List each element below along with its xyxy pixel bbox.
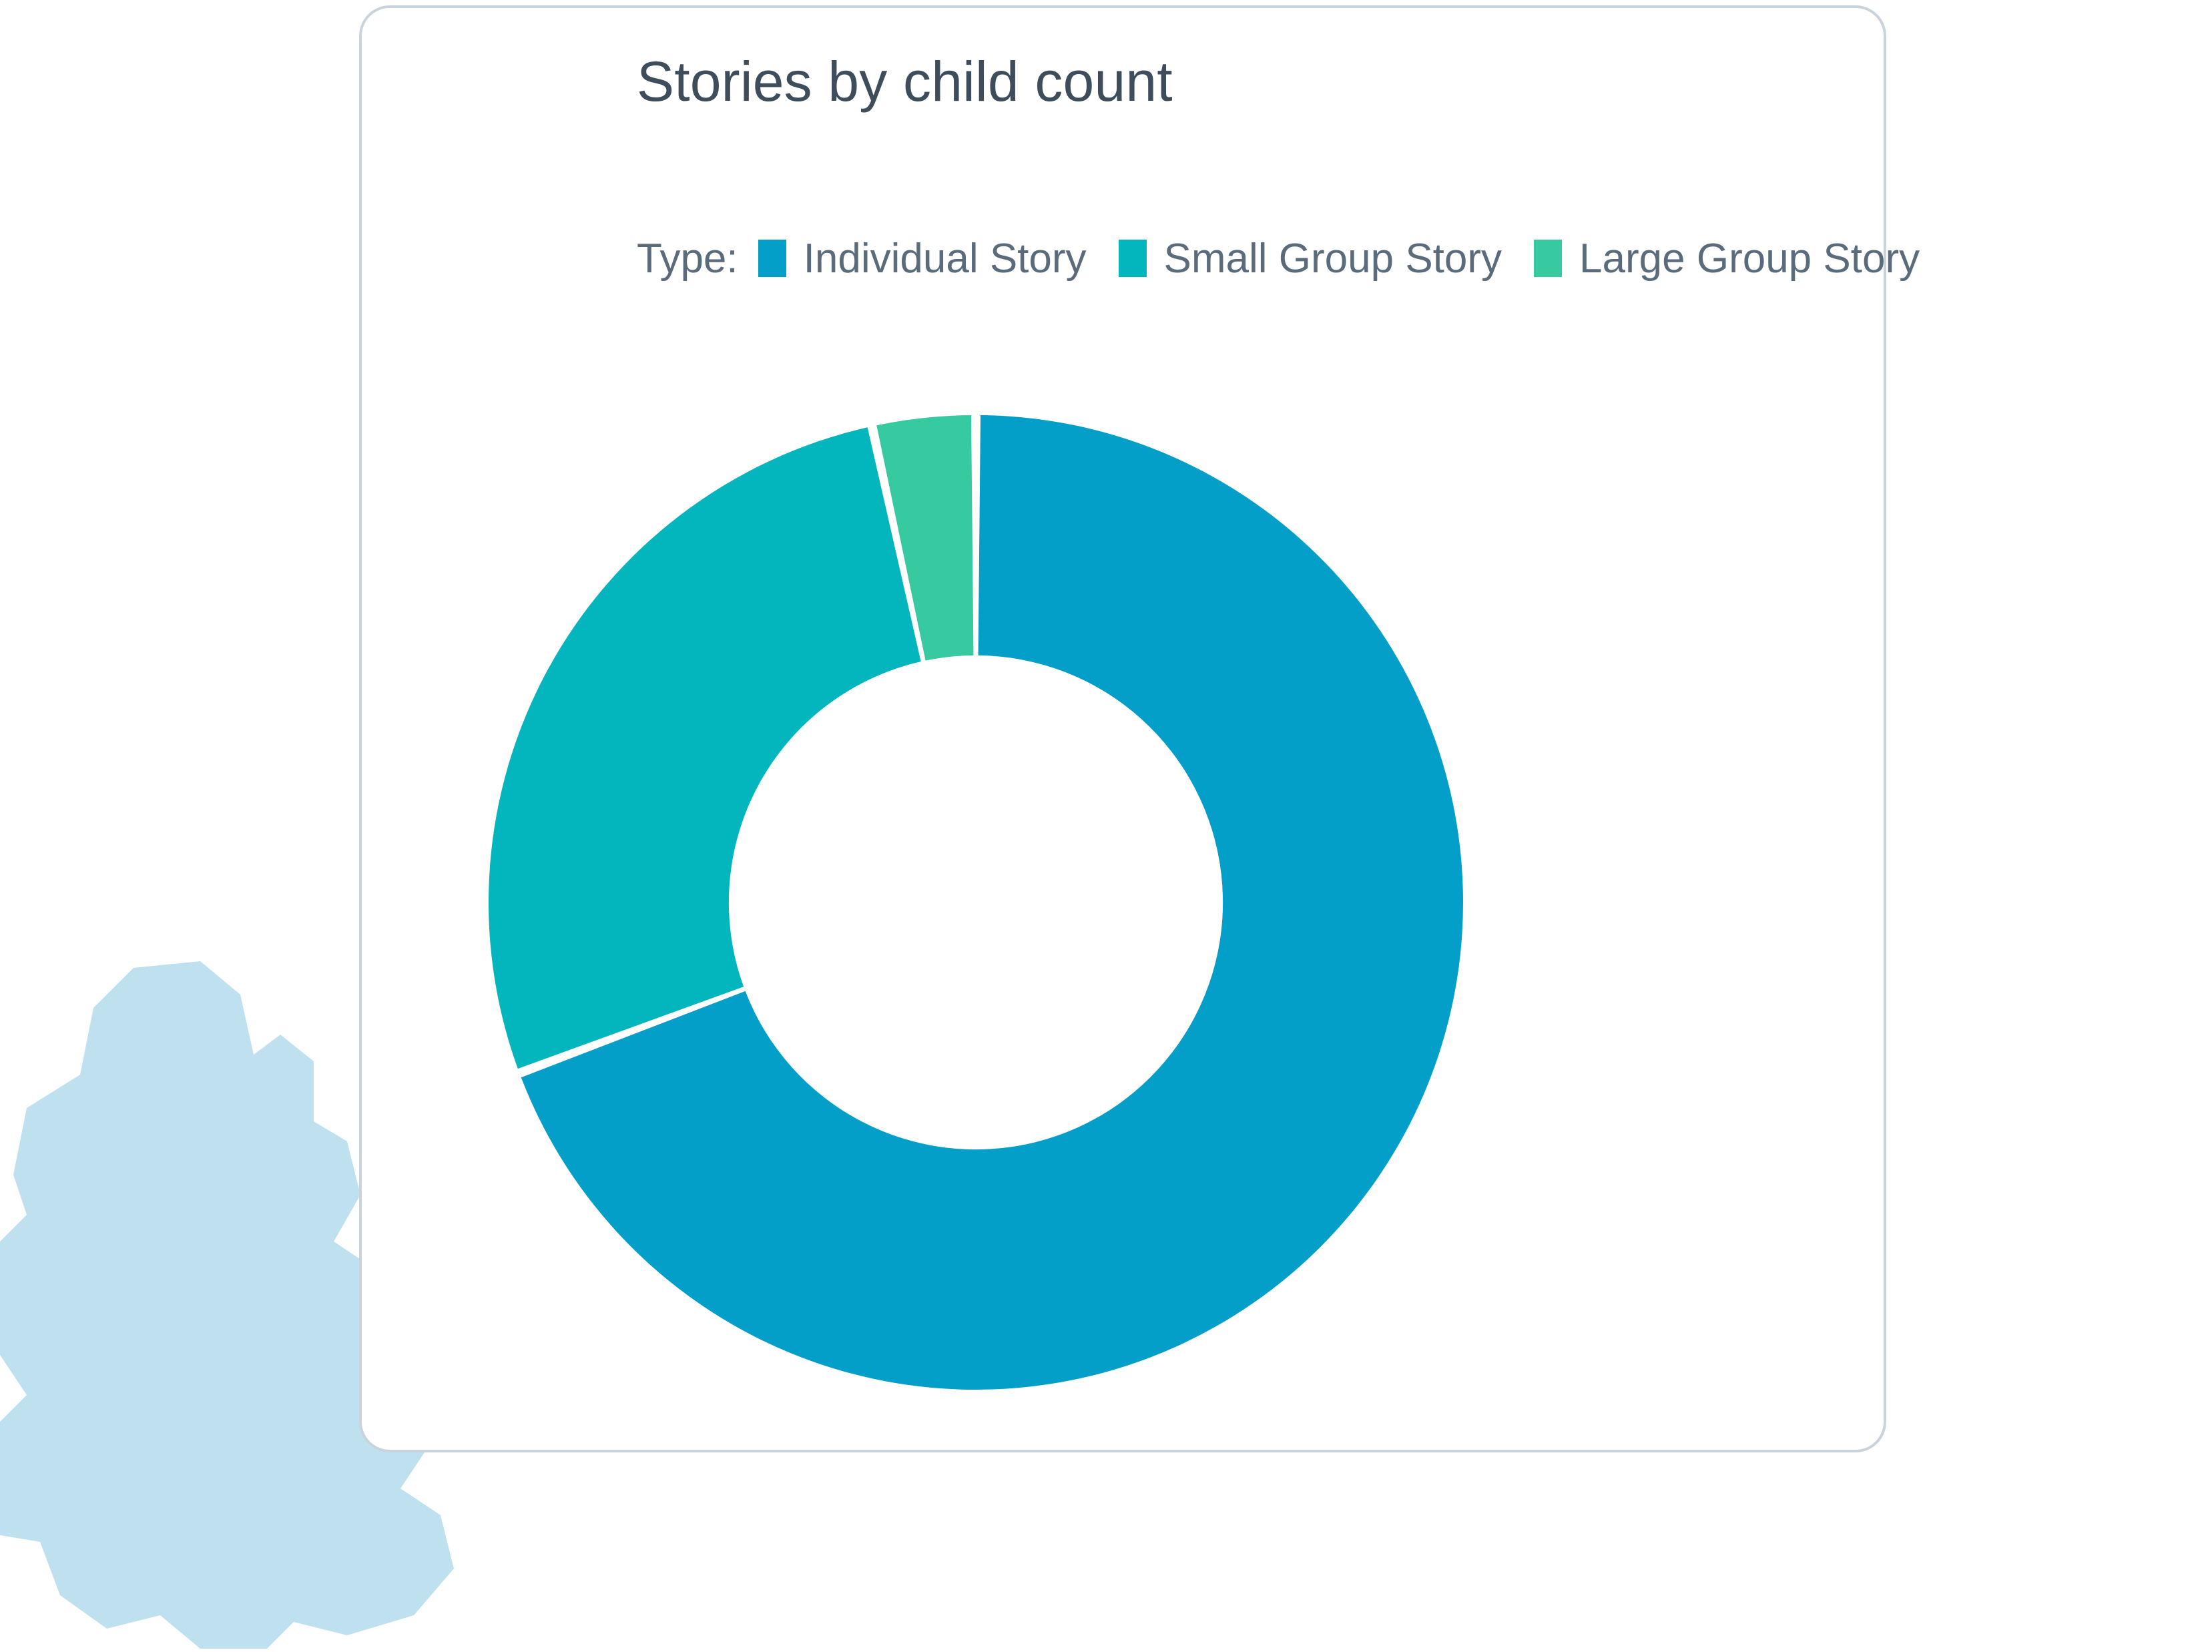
- legend-item-small-group-story[interactable]: Small Group Story: [1119, 235, 1502, 282]
- donut-chart[interactable]: [455, 382, 1496, 1423]
- legend-item-individual-story[interactable]: Individual Story: [758, 235, 1087, 282]
- legend-label-individual-story: Individual Story: [804, 235, 1087, 282]
- chart-card: Stories by child count Type: Individual …: [359, 5, 1886, 1452]
- legend-swatch-icon-small-group-story: [1119, 240, 1147, 277]
- legend-item-large-group-story[interactable]: Large Group Story: [1534, 235, 1920, 282]
- page-title: Stories by child count: [637, 49, 1173, 114]
- legend-label-small-group-story: Small Group Story: [1164, 235, 1502, 282]
- chart-legend: Type: Individual Story Small Group Story…: [637, 235, 1920, 282]
- legend-swatch-icon-large-group-story: [1534, 240, 1562, 277]
- legend-swatch-icon-individual-story: [758, 240, 786, 277]
- donut-slice-small-group-story[interactable]: [489, 427, 921, 1069]
- legend-title: Type:: [637, 235, 738, 282]
- legend-label-large-group-story: Large Group Story: [1579, 235, 1920, 282]
